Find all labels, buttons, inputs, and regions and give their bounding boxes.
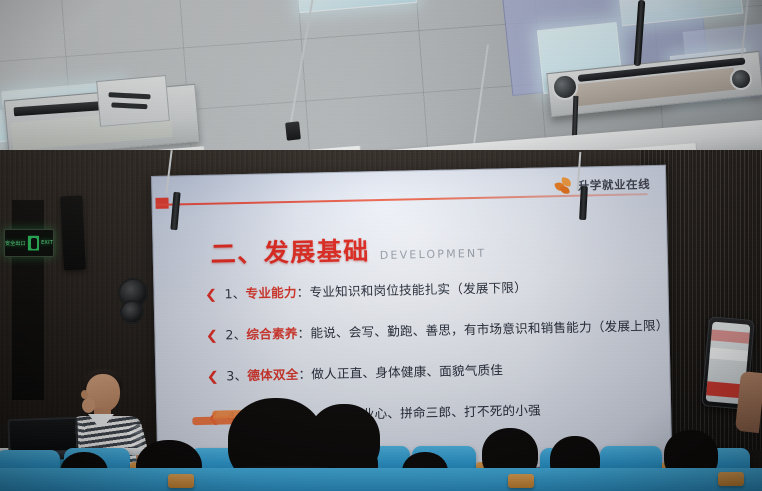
slide-title-en: DEVELOPMENT bbox=[380, 247, 487, 262]
slide-title-cn: 二、发展基础 bbox=[210, 231, 370, 270]
bullet-body: 能说、会写、勤跑、善思，有市场意识和销售能力（发展上限） bbox=[310, 318, 668, 341]
bullet-label: 专业能力 bbox=[245, 285, 297, 301]
bullet-separator: ： bbox=[298, 367, 311, 382]
presenter-hand bbox=[82, 398, 95, 413]
exit-sign: 安全出口 EXIT bbox=[4, 229, 54, 257]
wall-speaker-driver-icon bbox=[120, 300, 144, 324]
phone-ui-band bbox=[711, 329, 750, 343]
slide-red-divider bbox=[156, 193, 648, 205]
exit-sign-label-en: EXIT bbox=[41, 240, 53, 246]
chevron-left-icon: ❮ bbox=[205, 289, 218, 302]
running-person-icon bbox=[28, 236, 39, 251]
slide-logo-text: 升学就业在线 bbox=[578, 176, 651, 194]
bullet-body: 做人正直、身体健康、面貌气质佳 bbox=[311, 363, 503, 382]
orange-leaf-logo-mark bbox=[556, 178, 573, 194]
seat-armrest bbox=[718, 472, 744, 486]
auditorium-seating-front-row bbox=[0, 468, 762, 491]
ac-diffuser-slit bbox=[108, 92, 150, 99]
list-item: ❮ 1、专业能力：专业知识和岗位技能扎实（发展下限） bbox=[205, 277, 658, 302]
bullet-number: 3、 bbox=[226, 368, 247, 383]
bullet-separator: ： bbox=[297, 285, 310, 300]
bullet-text: 3、德体双全：做人正直、身体健康、面貌气质佳 bbox=[226, 363, 503, 384]
seat-armrest bbox=[168, 474, 194, 488]
ac-diffuser-slit bbox=[111, 102, 147, 109]
chevron-left-icon: ❮ bbox=[206, 371, 219, 384]
wall-mounted-speaker bbox=[60, 195, 86, 270]
ceiling-ac-diffuser bbox=[96, 75, 170, 127]
bullet-body: 专业知识和岗位技能扎实（发展下限） bbox=[309, 280, 527, 300]
seat-armrest bbox=[508, 474, 534, 488]
bullet-text: 2、综合素养：能说、会写、勤跑、善思，有市场意识和销售能力（发展上限） bbox=[225, 318, 668, 343]
list-item: ❮ 3、德体双全：做人正直、身体健康、面貌气质佳 bbox=[207, 359, 660, 384]
bullet-number: 1、 bbox=[224, 286, 245, 301]
bullet-number: 2、 bbox=[225, 327, 246, 342]
slide-title: 二、发展基础 DEVELOPMENT bbox=[210, 229, 486, 271]
chevron-left-icon: ❮ bbox=[206, 330, 219, 343]
phone-ui-band bbox=[709, 347, 748, 361]
ceiling-camera-bracket bbox=[285, 121, 301, 140]
bullet-label: 综合素养 bbox=[246, 326, 298, 342]
list-item: ❮ 2、综合素养：能说、会写、勤跑、善思，有市场意识和销售能力（发展上限） bbox=[206, 318, 659, 343]
slide-logo: 升学就业在线 bbox=[556, 176, 651, 194]
bullet-text: 1、专业能力：专业知识和岗位技能扎实（发展下限） bbox=[224, 280, 527, 302]
bullet-separator: ： bbox=[297, 326, 310, 341]
exit-sign-label-cn: 安全出口 bbox=[5, 240, 26, 247]
lecture-hall-photo: 安全出口 EXIT 升学就业在线 二、发展基础 DEVELOPMENT ❮ 1、… bbox=[0, 0, 762, 491]
bullet-label: 德体双全 bbox=[247, 367, 299, 383]
